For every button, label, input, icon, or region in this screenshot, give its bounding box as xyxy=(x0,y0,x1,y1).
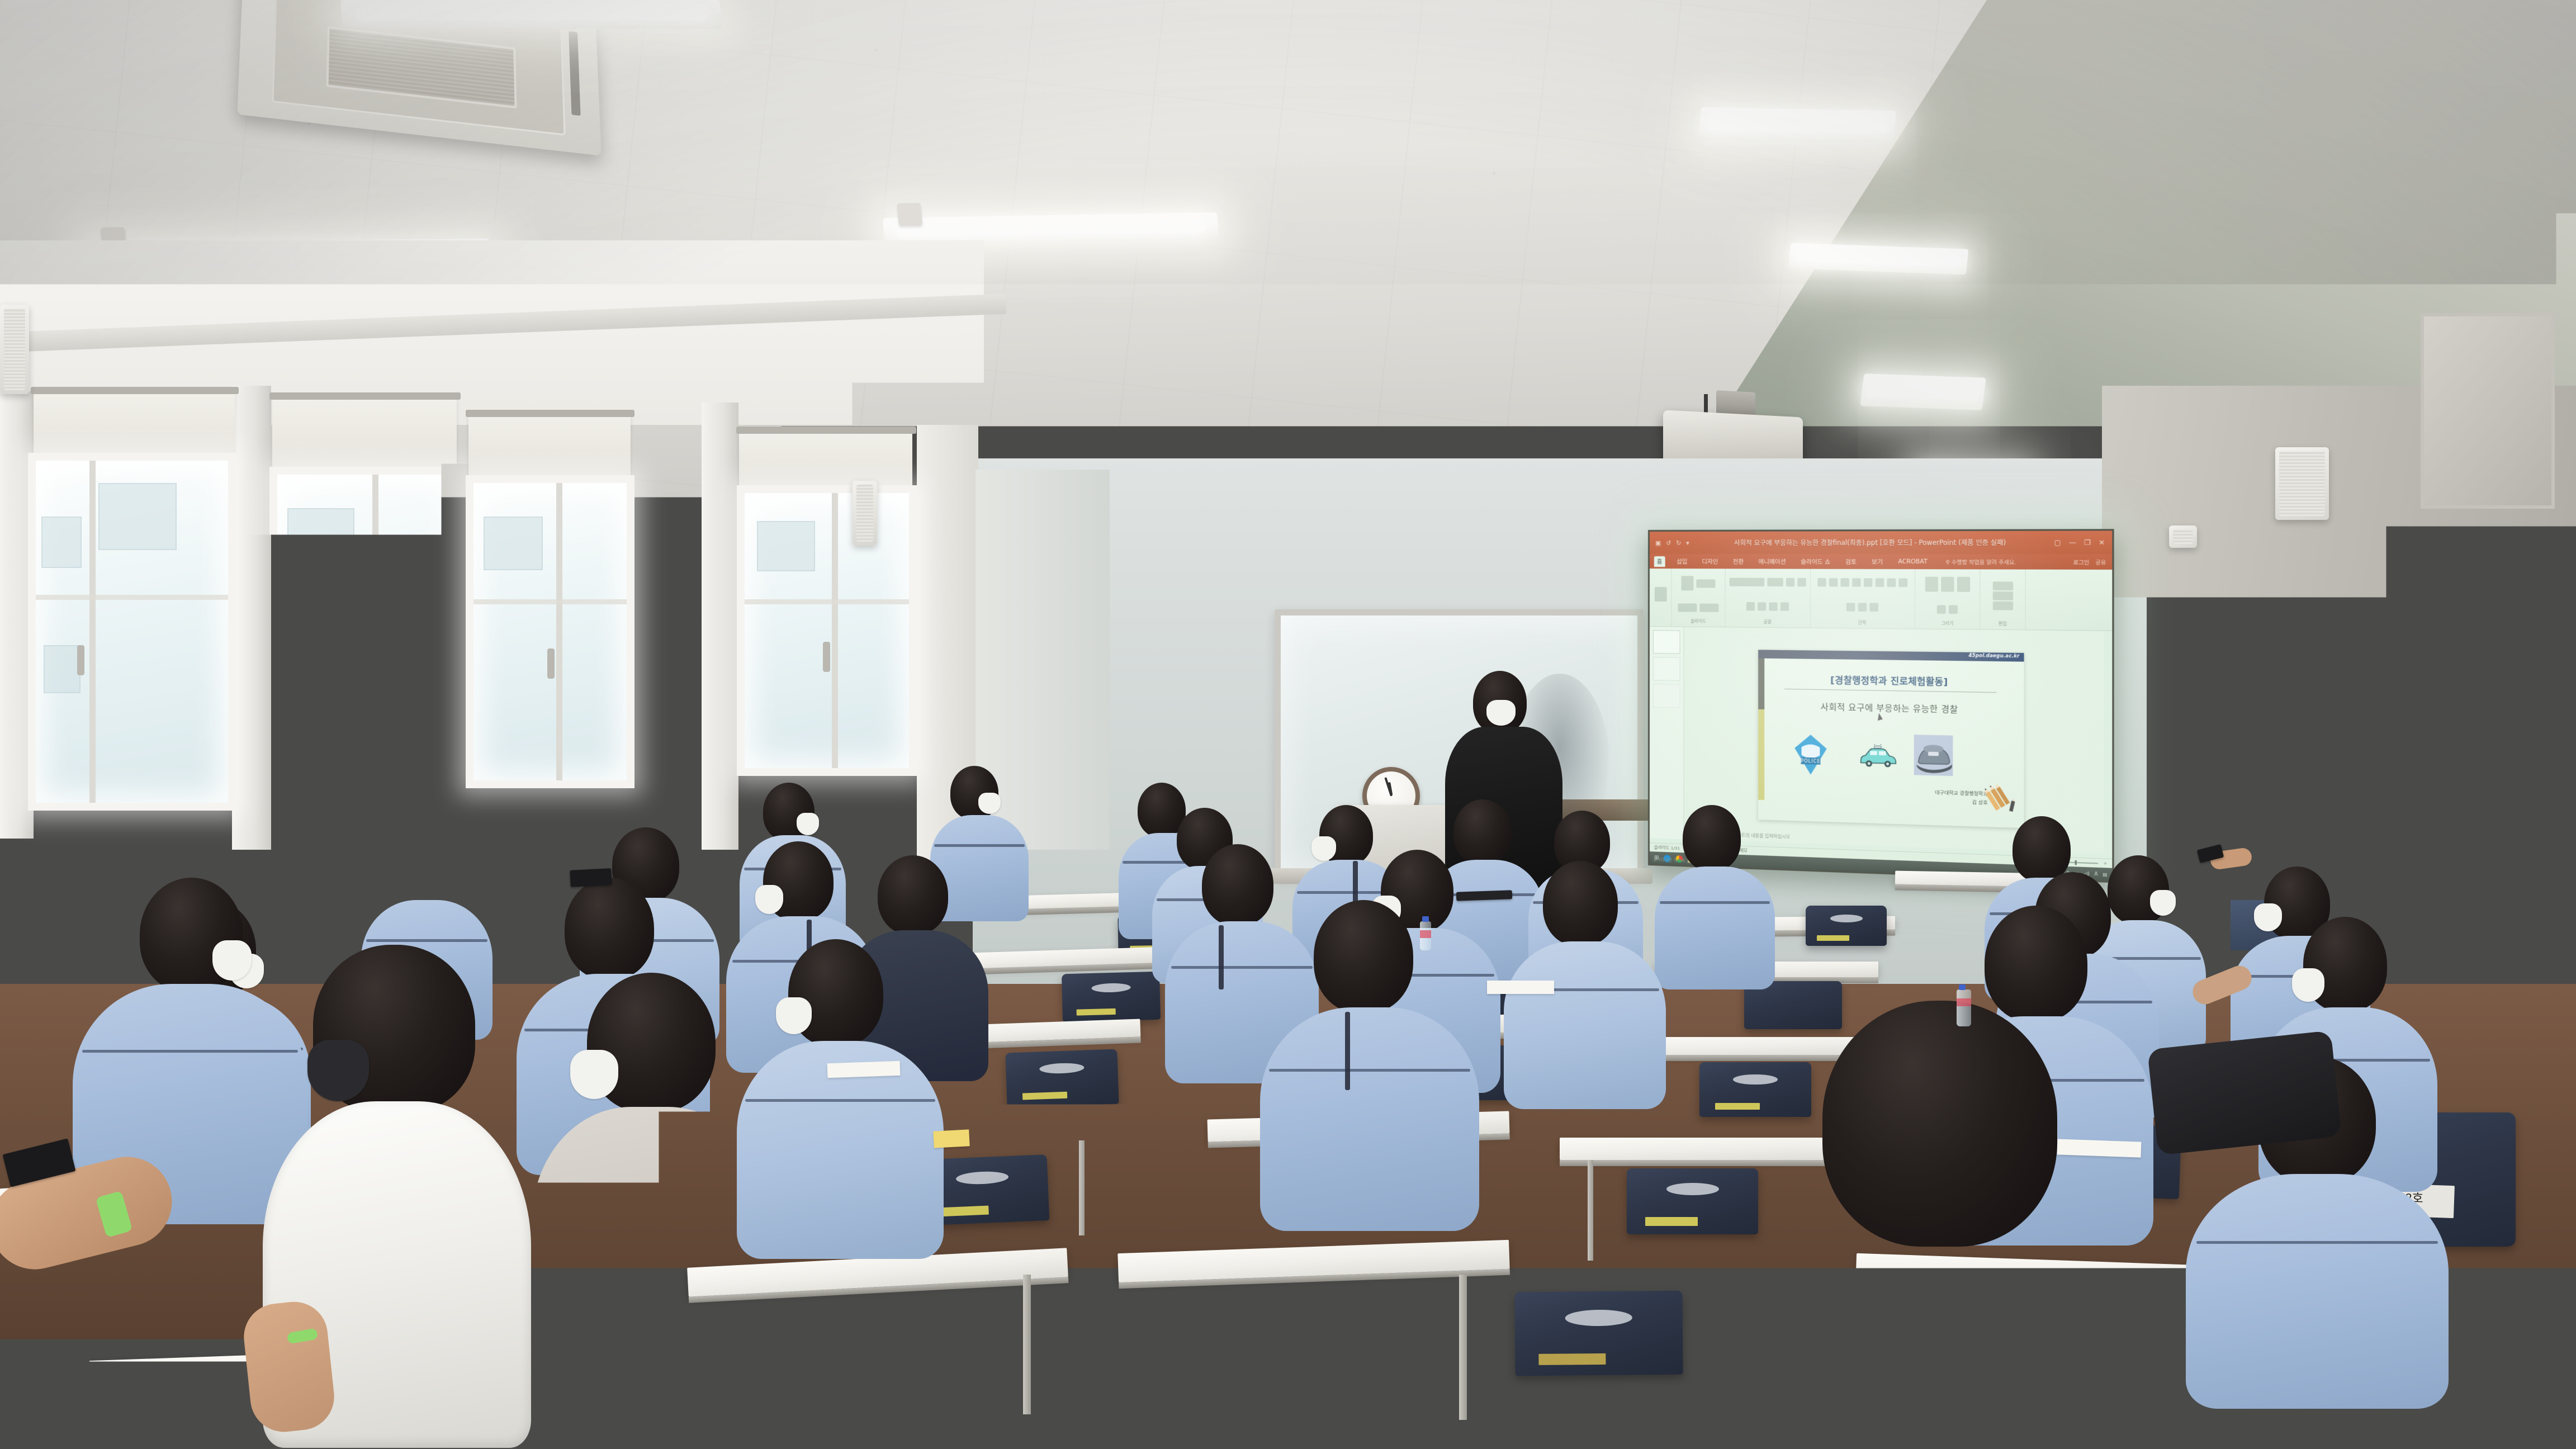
uniform-stripe xyxy=(2196,1241,2438,1244)
chair-handle-slot xyxy=(1091,983,1130,993)
student-mask xyxy=(978,793,1001,814)
shapes-icon[interactable] xyxy=(1925,577,1938,592)
bold-icon[interactable] xyxy=(1786,578,1794,586)
uniform-stripe xyxy=(82,1050,298,1053)
window-mullion xyxy=(556,483,562,780)
light-bracket xyxy=(897,203,922,226)
light-tube xyxy=(356,7,706,20)
slide-thumbnail[interactable] xyxy=(1653,630,1680,654)
roller-blind-1[interactable] xyxy=(34,391,235,456)
uniform-stripe xyxy=(1269,1069,1471,1072)
shape-outline-icon[interactable] xyxy=(1949,605,1958,614)
wall-vent-right xyxy=(2169,525,2197,548)
light-tube xyxy=(1707,116,1888,133)
chair-asset-tag xyxy=(1022,1091,1067,1100)
speaker-grille xyxy=(856,485,873,542)
student-head xyxy=(565,878,654,979)
chair-handle-slot xyxy=(1774,992,1813,1001)
tab-design[interactable]: 디자인 xyxy=(1699,556,1721,567)
ribbon-options-icon[interactable]: ▢ xyxy=(2054,538,2061,547)
vent-grille xyxy=(2173,529,2193,544)
slide-affiliation: 대구대학교 경찰행정학과 xyxy=(1935,789,1987,799)
paste-icon[interactable] xyxy=(1654,587,1666,602)
group-icons[interactable] xyxy=(1919,571,1976,619)
undo-icon[interactable]: ↺ xyxy=(1666,539,1671,546)
chair-r2-1[interactable] xyxy=(1062,972,1161,1022)
quick-styles-icon[interactable] xyxy=(1957,577,1969,592)
chair-r3-1[interactable] xyxy=(1005,1049,1119,1108)
slide-thumbnail[interactable] xyxy=(1653,684,1680,708)
student-mask xyxy=(2292,968,2324,1002)
water-bottle-2[interactable] xyxy=(1957,989,1971,1026)
ribbon-group-paragraph[interactable]: 단락 xyxy=(1811,569,1915,629)
window-handle[interactable] xyxy=(547,648,555,679)
water-bottle-1[interactable] xyxy=(1420,921,1431,950)
tab-transitions[interactable]: 전환 xyxy=(1730,556,1747,567)
chair-handle-slot xyxy=(1830,915,1863,922)
window-column-2 xyxy=(232,386,271,850)
blind-rail-3 xyxy=(466,410,634,417)
desk-leg xyxy=(1079,1140,1085,1235)
student-head xyxy=(2012,816,2071,882)
phone-on-desk-2[interactable] xyxy=(570,868,612,887)
paper-sheet-2[interactable] xyxy=(1487,981,1554,994)
group-icons[interactable] xyxy=(1676,571,1721,617)
save-icon[interactable]: ▣ xyxy=(1655,539,1661,546)
police-shield-icon: POLICE xyxy=(1793,733,1828,776)
wall-speaker-right xyxy=(2275,447,2329,520)
text-direction-icon[interactable] xyxy=(1858,603,1867,612)
tell-me-box[interactable]: ⚲ 수행할 작업을 알려 주세요. xyxy=(1945,558,2016,566)
ribbon[interactable]: 슬라이드 글꼴 xyxy=(1650,569,2112,631)
minimize-button[interactable]: — xyxy=(2069,538,2076,547)
arrange-icon[interactable] xyxy=(1941,577,1954,592)
police-cap-icon xyxy=(1912,732,1954,778)
roller-blind-4[interactable] xyxy=(739,430,912,486)
student-head xyxy=(1453,799,1512,864)
wall-speaker-left xyxy=(0,305,29,394)
font-color-icon[interactable] xyxy=(1758,602,1766,610)
student-mask xyxy=(2150,890,2176,916)
reset-icon[interactable] xyxy=(1678,603,1697,612)
ceiling-light-6 xyxy=(1698,107,1896,143)
window-title: 사회적 요구에 부응하는 유능한 경찰final(최종).ppt [호환 모드]… xyxy=(1689,538,2054,547)
tell-me-label: 수행할 작업을 알려 주세요. xyxy=(1952,560,2016,566)
tab-acrobat[interactable]: ACROBAT xyxy=(1895,557,1930,566)
wall-recess-right xyxy=(2421,313,2555,509)
classroom-photo: ▣ ↺ ↻ ▾ 사회적 요구에 부응하는 유능한 경찰final(최종).ppt… xyxy=(0,0,2576,1449)
uniform-stripe xyxy=(934,844,1025,847)
zoom-in-button[interactable]: + xyxy=(2104,861,2108,866)
restore-button[interactable]: ❐ xyxy=(2084,538,2091,547)
line-spacing-icon[interactable] xyxy=(1864,578,1873,586)
exterior-building xyxy=(44,645,80,693)
slide-side-accent-yellow xyxy=(1758,709,1764,800)
svg-text:POLICE: POLICE xyxy=(1801,759,1820,764)
backpack[interactable] xyxy=(2147,1030,2342,1155)
window-mullion xyxy=(89,461,96,803)
decrease-indent-icon[interactable] xyxy=(1840,578,1849,586)
student-head xyxy=(1683,805,1741,871)
window-1 xyxy=(28,453,236,811)
wall-speaker-mid xyxy=(853,481,877,546)
student-torso xyxy=(1260,1007,1479,1231)
ceiling-light-2 xyxy=(340,0,722,29)
window-handle[interactable] xyxy=(823,642,830,672)
student-mask xyxy=(755,885,783,914)
comments-toggle[interactable]: 메모 xyxy=(1740,847,1748,854)
group-label-slides: 슬라이드 xyxy=(1690,618,1706,624)
text-shadow-icon[interactable] xyxy=(1769,603,1777,611)
desk-leg xyxy=(1588,1160,1593,1261)
grey-shirt xyxy=(532,1107,767,1375)
slide-indicator: 슬라이드 1/31 xyxy=(1654,844,1680,851)
replace-icon[interactable] xyxy=(1992,591,2012,600)
student-mask xyxy=(797,813,819,835)
bottle-cap xyxy=(1959,984,1966,990)
group-icons[interactable] xyxy=(1992,572,2012,620)
window-3 xyxy=(466,475,634,788)
exterior-building xyxy=(383,536,445,598)
ribbon-group-editing[interactable]: 편집 xyxy=(1980,569,2025,629)
chair-handle-slot xyxy=(1106,1320,1174,1338)
convert-smartart-icon[interactable] xyxy=(1869,603,1878,612)
slide-subtitle: 사회적 요구에 부응하는 유능한 경찰 xyxy=(1758,699,2024,716)
window-mullion xyxy=(745,599,909,604)
qat-dropdown-icon[interactable]: ▾ xyxy=(1686,539,1689,546)
group-icons[interactable] xyxy=(1730,571,1806,618)
group-icons[interactable] xyxy=(1815,571,1910,619)
font-name-box[interactable] xyxy=(1730,577,1765,586)
paper-sheet-1[interactable] xyxy=(827,1061,901,1078)
window-mullion xyxy=(473,599,627,604)
chair-far-2[interactable] xyxy=(1806,906,1887,946)
light-tube xyxy=(1796,250,1961,267)
window-column-3 xyxy=(702,402,738,850)
ime-icon[interactable]: A xyxy=(2094,871,2097,877)
char-spacing-icon[interactable] xyxy=(1781,603,1789,611)
exterior-building xyxy=(757,521,815,571)
student-torso xyxy=(1655,866,1775,989)
exterior-building xyxy=(41,517,82,568)
tab-view[interactable]: 보기 xyxy=(1869,556,1886,567)
window-mullion xyxy=(372,475,378,800)
light-tube xyxy=(1866,382,1980,400)
group-label xyxy=(1660,619,1661,624)
chair-handle-slot xyxy=(1565,1309,1632,1326)
slide-divider xyxy=(1784,689,1996,693)
chair-r3-3[interactable] xyxy=(1699,1062,1811,1117)
tab-animations[interactable]: 애니메이션 xyxy=(1755,556,1788,567)
student-head xyxy=(391,833,455,905)
ribbon-group-font[interactable]: 글꼴 xyxy=(1726,569,1811,627)
numbering-icon[interactable] xyxy=(1829,578,1838,586)
student-head xyxy=(1314,900,1413,1013)
ribbon-group-clipboard[interactable] xyxy=(1650,569,1672,626)
tab-review[interactable]: 검토 xyxy=(1843,556,1859,567)
tab-insert[interactable]: 삽입 xyxy=(1674,556,1690,567)
police-car-icon xyxy=(1859,744,1897,768)
student-torso xyxy=(1504,941,1666,1109)
exterior-building xyxy=(484,517,543,570)
chair-asset-tag xyxy=(1645,1217,1698,1225)
slide-title: [경찰행정학과 진로체험활동] xyxy=(1758,671,2024,689)
columns-icon[interactable] xyxy=(1846,603,1855,611)
ribbon-group-drawing[interactable]: 그리기 xyxy=(1915,569,1980,629)
increase-indent-icon[interactable] xyxy=(1852,578,1861,586)
chair-handle-slot xyxy=(1039,1062,1085,1074)
account-area[interactable]: 로그인 공유 xyxy=(2073,558,2113,566)
uniform-stripe xyxy=(1660,901,1770,904)
bullets-icon[interactable] xyxy=(1817,578,1826,586)
student-head xyxy=(878,855,948,935)
redo-icon[interactable]: ↻ xyxy=(1676,539,1681,546)
chair-r4-3[interactable] xyxy=(1627,1168,1758,1234)
student-mask xyxy=(212,940,252,981)
slide-thumbnail[interactable] xyxy=(1653,657,1680,681)
window-mullion xyxy=(277,600,453,605)
lanyard xyxy=(1345,1012,1350,1090)
font-size-box[interactable] xyxy=(1767,577,1783,586)
presenter-mask xyxy=(1486,700,1516,726)
student-head xyxy=(1822,1001,2057,1247)
desk-r4-3 xyxy=(1560,1138,1862,1160)
align-left-icon[interactable] xyxy=(1876,578,1884,586)
bottle-label xyxy=(1957,998,1971,1006)
quick-access-toolbar[interactable]: ▣ ↺ ↻ ▾ xyxy=(1650,539,1689,546)
roller-blind-2[interactable] xyxy=(272,397,457,470)
student-mask-black xyxy=(307,1040,369,1101)
chair-asset-tag xyxy=(1715,1103,1760,1110)
ac-vane-right xyxy=(569,31,580,116)
uniform-stripe xyxy=(1171,966,1313,969)
ribbon-tab-bar[interactable]: 홈 삽입 디자인 전환 애니메이션 슬라이드 쇼 검토 보기 ACROBAT ⚲… xyxy=(1650,554,2112,570)
blind-rail-2 xyxy=(269,392,461,400)
find-icon[interactable] xyxy=(1992,581,2012,590)
student-head xyxy=(1202,844,1273,926)
uniform-stripe xyxy=(366,939,487,942)
window-4 xyxy=(737,485,917,776)
student-mask xyxy=(2254,903,2282,931)
group-label-font: 글꼴 xyxy=(1764,619,1772,625)
blind-rail-1 xyxy=(31,387,239,394)
ribbon-group-slides[interactable]: 슬라이드 xyxy=(1672,569,1726,627)
chair-asset-tag xyxy=(1076,1008,1115,1015)
window-2 xyxy=(269,467,461,808)
group-label-paragraph: 단락 xyxy=(1858,619,1866,626)
student-arm xyxy=(240,1299,337,1435)
group-label-editing: 편집 xyxy=(1999,621,2007,627)
student-mask xyxy=(776,997,812,1034)
select-icon[interactable] xyxy=(1992,601,2012,610)
current-slide[interactable]: 45pol.daegu.ac.kr [경찰행정학과 진로체험활동] 사회적 요구… xyxy=(1758,650,2024,828)
powerpoint-titlebar: ▣ ↺ ↻ ▾ 사회적 요구에 부응하는 유능한 경찰final(최종).ppt… xyxy=(1650,531,2112,554)
lanyard xyxy=(1219,925,1224,989)
shape-fill-icon[interactable] xyxy=(1937,605,1946,614)
window-buttons[interactable]: ▢ — ❐ ✕ xyxy=(2054,538,2112,547)
layout-icon[interactable] xyxy=(1696,579,1715,588)
tab-home[interactable]: 홈 xyxy=(1654,556,1665,567)
paper-sheet-3[interactable] xyxy=(2057,1139,2142,1157)
italic-icon[interactable] xyxy=(1797,578,1806,586)
student-torso xyxy=(2186,1174,2449,1409)
window-handle[interactable] xyxy=(362,652,370,683)
group-icons[interactable] xyxy=(1654,571,1666,618)
student-head xyxy=(1543,861,1618,946)
bottle-cap xyxy=(1422,916,1429,922)
speaker-grille xyxy=(2279,451,2325,516)
ac-grille xyxy=(326,26,517,108)
light-tube xyxy=(1330,399,1453,411)
uniform-stripe xyxy=(745,1099,935,1102)
window-handle[interactable] xyxy=(77,645,84,675)
chair-asset-tag xyxy=(1538,1353,1606,1365)
exterior-building xyxy=(287,508,354,564)
exterior-building xyxy=(98,483,177,550)
align-center-icon[interactable] xyxy=(1887,578,1896,586)
chair-handle-slot xyxy=(1733,1074,1778,1085)
chair-handle-slot xyxy=(1666,1183,1719,1195)
window-mullion xyxy=(36,595,228,600)
group-label-drawing: 그리기 xyxy=(1941,620,1953,627)
student-head xyxy=(1985,906,2087,1022)
pencils-icon xyxy=(1984,783,2018,815)
slide-header-url: 45pol.daegu.ac.kr xyxy=(1969,653,2020,659)
blind-rail-4 xyxy=(736,427,916,434)
align-right-icon[interactable] xyxy=(1898,578,1907,587)
student-mask xyxy=(1311,836,1336,861)
door-plate xyxy=(2194,607,2206,639)
chair-asset-tag xyxy=(1817,935,1849,940)
share-button[interactable]: 공유 xyxy=(2095,558,2106,566)
chair-handle-slot xyxy=(955,1171,1008,1185)
chair-r5-1[interactable] xyxy=(1055,1300,1225,1389)
bottle-label xyxy=(1420,930,1431,938)
signin-link[interactable]: 로그인 xyxy=(2073,558,2090,566)
section-icon[interactable] xyxy=(1699,604,1718,612)
chair-asset-tag xyxy=(1081,1365,1148,1378)
desk-leg xyxy=(1459,1275,1467,1420)
roller-blind-3[interactable] xyxy=(468,414,631,476)
chair-asset-tag xyxy=(936,1206,989,1216)
new-slide-icon[interactable] xyxy=(1681,576,1693,590)
light-tube xyxy=(897,220,1205,237)
student-mask xyxy=(570,1050,618,1099)
slide-presenter-name: 김 상호 xyxy=(1935,797,1987,807)
slide-thumbnail-pane[interactable] xyxy=(1650,627,1684,839)
action-center-icon[interactable]: ▤ xyxy=(2103,872,2107,877)
speaker-grille xyxy=(4,309,25,390)
close-button[interactable]: ✕ xyxy=(2099,538,2105,547)
window-mullion xyxy=(832,493,838,768)
chair-asset-tag xyxy=(1758,1017,1797,1023)
slide-author-block: 대구대학교 경찰행정학과 김 상호 xyxy=(1935,789,1987,807)
sticky-note[interactable] xyxy=(933,1129,969,1148)
ceiling-light-10 xyxy=(1860,373,1986,410)
tab-slideshow[interactable]: 슬라이드 쇼 xyxy=(1798,556,1833,567)
underline-icon[interactable] xyxy=(1746,602,1755,610)
